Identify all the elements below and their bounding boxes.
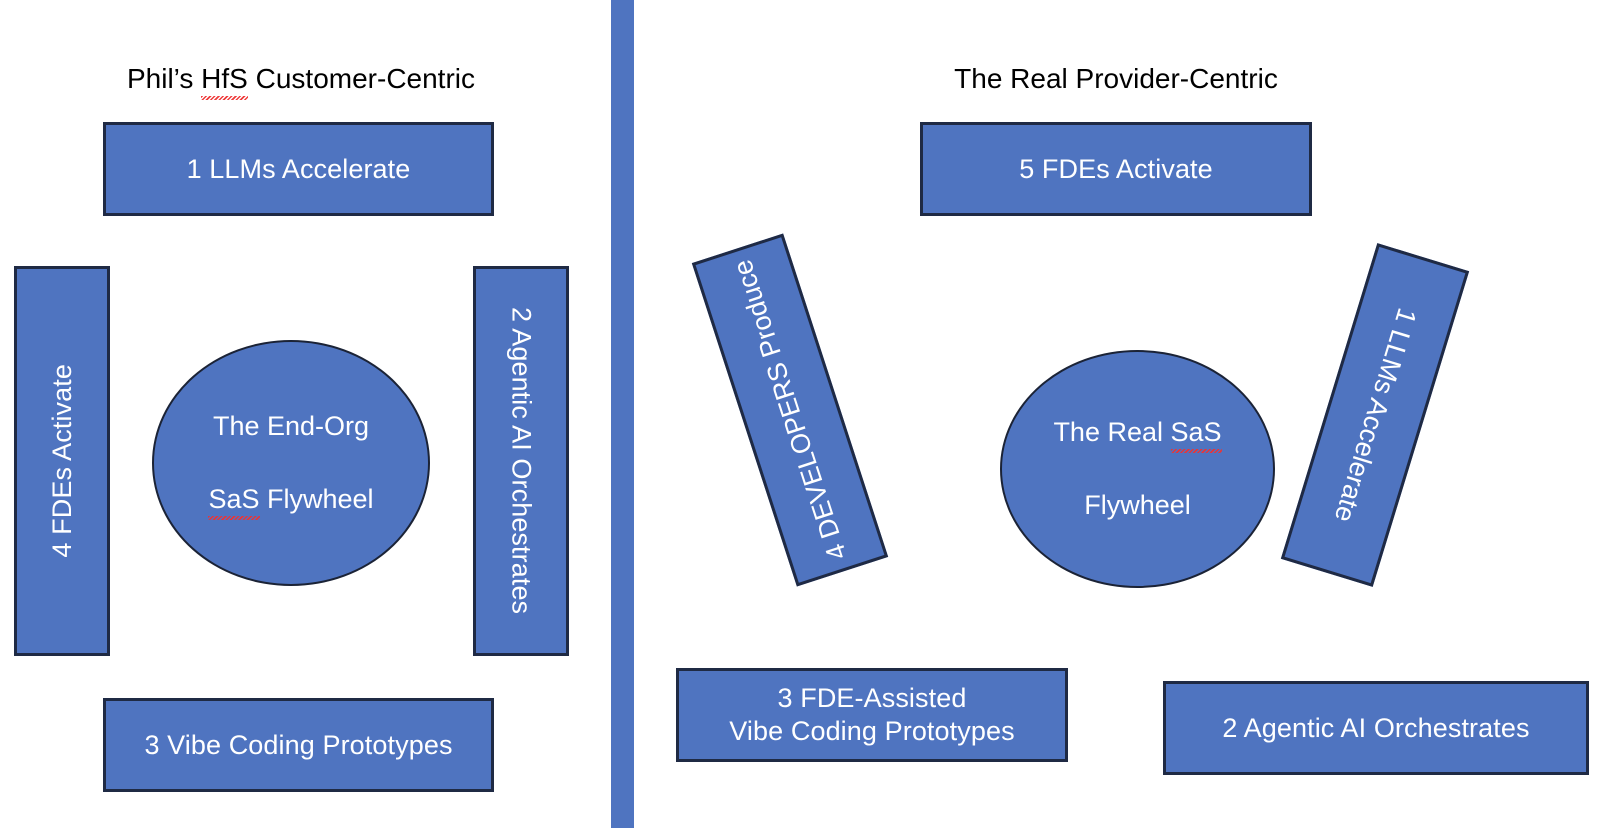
right-step-5-box[interactable]: 5 FDEs Activate — [920, 122, 1312, 216]
right-step-5-label: 5 FDEs Activate — [1019, 153, 1213, 186]
left-step-3-label: 3 Vibe Coding Prototypes — [144, 729, 452, 762]
right-step-3-label-line1: 3 FDE-Assisted — [729, 682, 1014, 715]
left-panel-title-line1: Phil’s HfS Customer-Centric — [96, 61, 506, 98]
left-center-circle[interactable]: The End-Org SaS Flywheel — [152, 340, 430, 586]
left-step-3-box[interactable]: 3 Vibe Coding Prototypes — [103, 698, 494, 792]
left-step-2-box[interactable]: 2 Agentic AI Orchestrates — [473, 266, 569, 656]
right-center-circle[interactable]: The Real SaS Flywheel — [1000, 350, 1275, 588]
right-step-3-box[interactable]: 3 FDE-Assisted Vibe Coding Prototypes — [676, 668, 1068, 762]
right-center-line2: Flywheel — [1053, 487, 1221, 523]
spellcheck-squiggle: SaS — [1171, 414, 1222, 450]
right-panel-title-line1: The Real Provider-Centric — [910, 61, 1322, 98]
right-center-line1: The Real SaS — [1053, 414, 1221, 450]
right-step-1-box[interactable]: 1 LLMs Accelerate — [1281, 243, 1469, 587]
right-step-1-label: 1 LLMs Accelerate — [1328, 304, 1423, 525]
diagram-canvas: Phil’s HfS Customer-Centric New SaS Flyw… — [0, 0, 1606, 828]
right-step-4-label: 4 DEVELOPERS Produce — [727, 256, 853, 564]
left-step-1-box[interactable]: 1 LLMs Accelerate — [103, 122, 494, 216]
right-step-2-label: 2 Agentic AI Orchestrates — [1222, 712, 1529, 745]
left-step-4-box[interactable]: 4 FDEs Activate — [14, 266, 110, 656]
spellcheck-squiggle: HfS — [201, 61, 248, 98]
left-step-1-label: 1 LLMs Accelerate — [187, 153, 411, 186]
panel-divider — [611, 0, 634, 828]
right-step-4-wrap: 4 DEVELOPERS Produce — [695, 240, 885, 580]
right-step-3-label-line2: Vibe Coding Prototypes — [729, 715, 1014, 748]
left-center-line2: SaS Flywheel — [208, 481, 373, 517]
spellcheck-squiggle: SaS — [208, 481, 259, 517]
left-center-line1: The End-Org — [208, 408, 373, 444]
right-step-4-box[interactable]: 4 DEVELOPERS Produce — [692, 233, 888, 586]
right-step-1-wrap: 1 LLMs Accelerate — [1280, 250, 1470, 580]
left-step-2-label: 2 Agentic AI Orchestrates — [505, 307, 538, 614]
right-step-2-box[interactable]: 2 Agentic AI Orchestrates — [1163, 681, 1589, 775]
left-step-4-label: 4 FDEs Activate — [46, 364, 79, 558]
